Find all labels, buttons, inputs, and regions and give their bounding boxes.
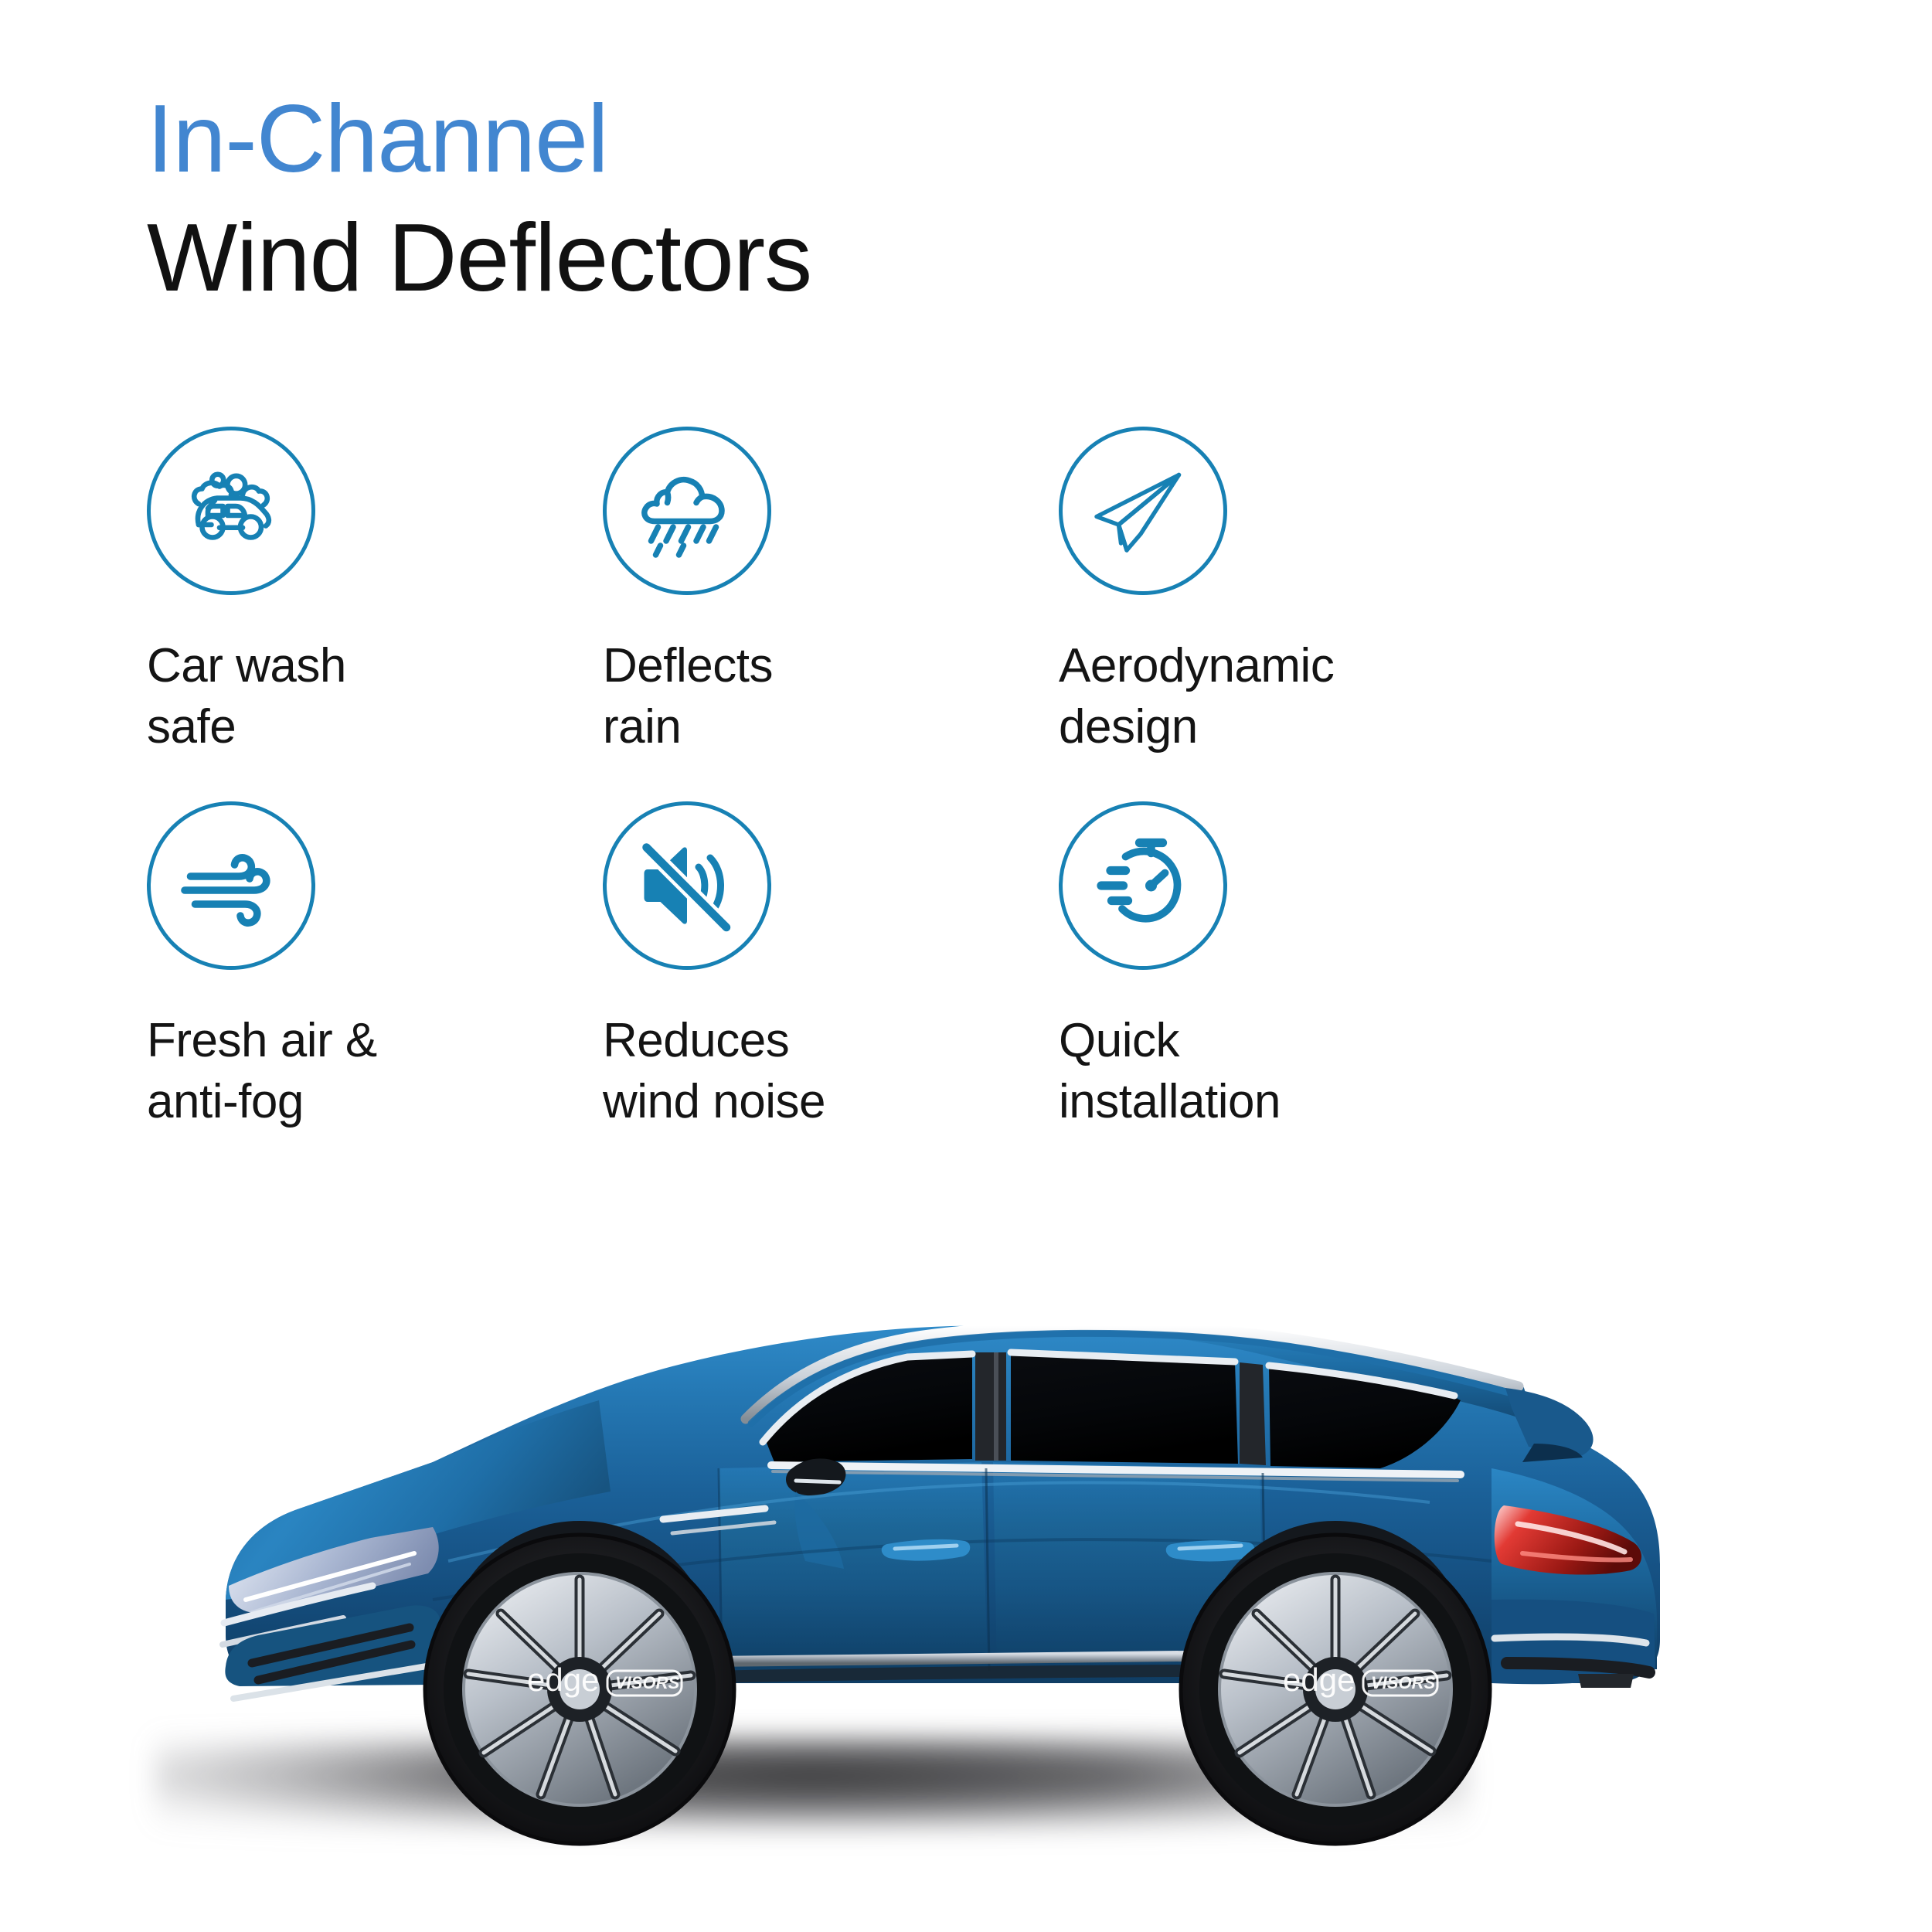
feature-label: Fresh air & anti-fog xyxy=(147,1010,603,1133)
svg-text:VISORS: VISORS xyxy=(1371,1673,1435,1692)
feature-quick-installation: Quick installation xyxy=(1059,801,1515,1176)
car-wash-icon xyxy=(147,427,315,595)
svg-text:edge: edge xyxy=(1283,1662,1355,1698)
stopwatch-icon xyxy=(1059,801,1227,970)
infographic-page: In-Channel Wind Deflectors xyxy=(0,0,1932,1932)
title-line-accent: In-Channel xyxy=(147,91,1383,187)
feature-fresh-air-anti-fog: Fresh air & anti-fog xyxy=(147,801,603,1176)
paper-airplane-icon xyxy=(1059,427,1227,595)
watermark-brand-text: edge xyxy=(527,1662,599,1698)
page-title: In-Channel Wind Deflectors xyxy=(147,91,1383,306)
title-line-main: Wind Deflectors xyxy=(147,210,1383,306)
feature-grid: Car wash safe xyxy=(147,427,1461,1176)
watermark-suffix-text: VISORS xyxy=(615,1673,679,1692)
feature-car-wash-safe: Car wash safe xyxy=(147,427,603,801)
feature-label: Car wash safe xyxy=(147,635,603,758)
mute-speaker-icon xyxy=(603,801,771,970)
feature-label: Aerodynamic design xyxy=(1059,635,1515,758)
product-image-stage: edge VISORS edge VISORS xyxy=(0,1206,1932,1932)
feature-label: Reduces wind noise xyxy=(603,1010,1059,1133)
feature-reduces-wind-noise: Reduces wind noise xyxy=(603,801,1059,1176)
feature-deflects-rain: Deflects rain xyxy=(603,427,1059,801)
feature-label: Deflects rain xyxy=(603,635,1059,758)
suv-side-profile-image: edge VISORS edge VISORS xyxy=(178,1236,1801,1855)
feature-label: Quick installation xyxy=(1059,1010,1515,1133)
rain-cloud-icon xyxy=(603,427,771,595)
feature-aerodynamic-design: Aerodynamic design xyxy=(1059,427,1515,801)
wind-icon xyxy=(147,801,315,970)
